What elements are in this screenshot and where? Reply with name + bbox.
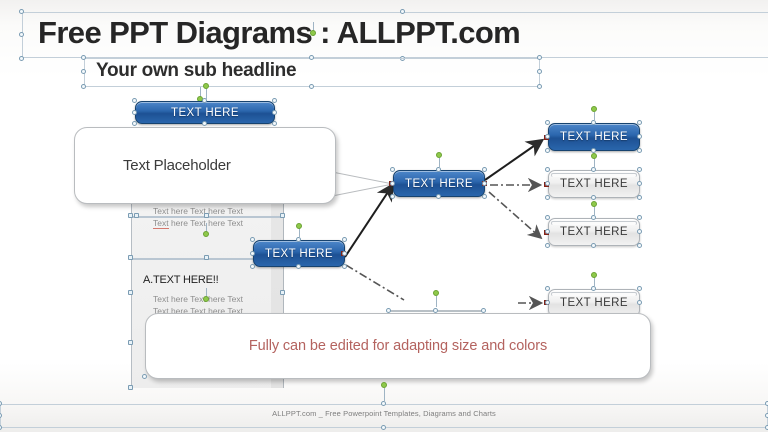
box6-handle-sw[interactable]	[545, 243, 550, 248]
process-box-label: TEXT HERE	[171, 107, 239, 119]
box7-handle-ne[interactable]	[637, 286, 642, 291]
rotation-handle[interactable]	[381, 382, 387, 388]
rotation-handle[interactable]	[203, 83, 209, 89]
panel-row-handle-s[interactable]	[204, 255, 209, 260]
page-title: Free PPT Diagrams : ALLPPT.com	[38, 15, 520, 51]
rotation-stem	[384, 388, 385, 402]
box3-handle-s[interactable]	[436, 194, 441, 199]
rotation-handle[interactable]	[296, 223, 302, 229]
panel-row-handle-nw2[interactable]	[134, 213, 139, 218]
process-box-center[interactable]: TEXT HERE	[393, 170, 485, 197]
box4-handle-w[interactable]	[545, 134, 550, 139]
panel-row-handle-sw[interactable]	[128, 255, 133, 260]
rotation-stem	[594, 158, 595, 167]
rotation-stem	[206, 88, 207, 99]
process-box-label: TEXT HERE	[560, 178, 628, 190]
box6-handle-w[interactable]	[545, 229, 550, 234]
box1-handle-w[interactable]	[132, 110, 137, 115]
panel-row-handle-ne[interactable]	[280, 213, 285, 218]
panel-row-handle-nw[interactable]	[128, 213, 133, 218]
box4-handle-e[interactable]	[637, 134, 642, 139]
title-textbox[interactable]: Free PPT Diagrams : ALLPPT.com	[22, 12, 768, 58]
box5-handle-sw[interactable]	[545, 195, 550, 200]
process-box-label: TEXT HERE	[560, 297, 628, 309]
spellcheck-underline: Text	[153, 218, 169, 229]
page-subtitle: Your own sub headline	[96, 60, 296, 82]
connector-center-to-right3	[489, 192, 540, 237]
rotation-stem	[594, 112, 595, 121]
connector-midleft-to-center	[345, 186, 392, 257]
box2-handle-se[interactable]	[342, 264, 347, 269]
box1-handle-nw[interactable]	[132, 98, 137, 103]
process-box-label: TEXT HERE	[405, 178, 473, 190]
box6-handle-n[interactable]	[591, 215, 596, 220]
handle-se[interactable]	[537, 84, 542, 89]
callout-bottom-text: Fully can be edited for adapting size an…	[249, 338, 547, 354]
process-box-right-1[interactable]: TEXT HERE	[548, 123, 640, 151]
handle-nw[interactable]	[81, 55, 86, 60]
process-box-mid-left[interactable]: TEXT HERE	[253, 240, 345, 267]
box1-handle-sw[interactable]	[132, 121, 137, 126]
handle-ne[interactable]	[537, 55, 542, 60]
box2-handle-s[interactable]	[296, 264, 301, 269]
box1-handle-s[interactable]	[202, 121, 207, 126]
box7-handle-w[interactable]	[545, 300, 550, 305]
rotation-stem	[439, 158, 440, 168]
rotation-handle[interactable]	[433, 290, 439, 296]
box3-handle-ne[interactable]	[482, 167, 487, 172]
box3-handle-nw[interactable]	[390, 167, 395, 172]
panel-line-3: Text here Text here Text	[153, 294, 243, 304]
box5-handle-n[interactable]	[591, 167, 596, 172]
box5-handle-se[interactable]	[637, 195, 642, 200]
rotation-handle[interactable]	[591, 272, 597, 278]
process-box-label: TEXT HERE	[560, 226, 628, 238]
box6-handle-nw[interactable]	[545, 215, 550, 220]
rotation-stem	[594, 206, 595, 215]
callout-bottom-handle-sw[interactable]	[142, 374, 147, 379]
box7-handle-nw[interactable]	[545, 286, 550, 291]
box5-handle-nw[interactable]	[545, 167, 550, 172]
box2-handle-ne[interactable]	[342, 237, 347, 242]
box6-handle-e[interactable]	[637, 229, 642, 234]
panel-handle-e2[interactable]	[280, 290, 285, 295]
rotation-handle[interactable]	[591, 106, 597, 112]
process-box-right-3[interactable]: TEXT HERE	[548, 218, 640, 246]
handle-n[interactable]	[400, 9, 405, 14]
handle-s[interactable]	[309, 84, 314, 89]
handle-sw[interactable]	[81, 84, 86, 89]
panel-line-2: Text here Text here Text	[153, 218, 243, 228]
box4-handle-ne[interactable]	[637, 120, 642, 125]
process-box-label: TEXT HERE	[265, 248, 333, 260]
box5-handle-s[interactable]	[591, 195, 596, 200]
box1-handle-se[interactable]	[272, 121, 277, 126]
box6-handle-se[interactable]	[637, 243, 642, 248]
callout-text-placeholder[interactable]: Text Placeholder	[74, 127, 336, 204]
panel-heading: A.TEXT HERE!!	[143, 274, 218, 286]
box5-handle-w[interactable]	[545, 181, 550, 186]
box4-handle-se[interactable]	[637, 148, 642, 153]
box4-handle-sw[interactable]	[545, 148, 550, 153]
connector-center-to-right1	[485, 141, 541, 180]
box1-handle-ne[interactable]	[272, 98, 277, 103]
box3-handle-w[interactable]	[390, 181, 395, 186]
handle-sw[interactable]	[19, 56, 24, 61]
rotation-stem	[436, 296, 437, 307]
rotation-handle[interactable]	[203, 231, 209, 237]
footer-textbox[interactable]: ALLPPT.com _ Free Powerpoint Templates, …	[0, 404, 768, 428]
box3-handle-se[interactable]	[482, 194, 487, 199]
box7-handle-e[interactable]	[637, 300, 642, 305]
powerpoint-slide-canvas[interactable]: Free PPT Diagrams : ALLPPT.com Your own …	[0, 0, 768, 432]
box6-handle-s[interactable]	[591, 243, 596, 248]
handle-s[interactable]	[381, 425, 386, 430]
handle-e[interactable]	[537, 69, 542, 74]
box5-handle-ne[interactable]	[637, 167, 642, 172]
rotation-handle[interactable]	[591, 153, 597, 159]
rotation-handle[interactable]	[436, 152, 442, 158]
handle-nw[interactable]	[19, 9, 24, 14]
box7-handle-n[interactable]	[591, 286, 596, 291]
footer-credit: ALLPPT.com _ Free Powerpoint Templates, …	[0, 409, 768, 418]
process-box-label: TEXT HERE	[560, 131, 628, 143]
callout-edit-note[interactable]: Fully can be edited for adapting size an…	[145, 313, 651, 379]
rotation-stem	[299, 228, 300, 238]
handle-w[interactable]	[19, 32, 24, 37]
callout-top-text: Text Placeholder	[123, 157, 231, 174]
panel-handle-w3[interactable]	[128, 340, 133, 345]
panel-handle-w2[interactable]	[128, 290, 133, 295]
box2-handle-sw[interactable]	[250, 264, 255, 269]
box2-handle-e[interactable]	[342, 251, 347, 256]
box1-handle-e[interactable]	[272, 110, 277, 115]
rotation-handle[interactable]	[591, 201, 597, 207]
box4-handle-nw[interactable]	[545, 120, 550, 125]
handle-n[interactable]	[309, 55, 314, 60]
box3-handle-e[interactable]	[482, 181, 487, 186]
handle-sw[interactable]	[0, 425, 2, 430]
panel-handle-sw[interactable]	[128, 385, 133, 390]
panel-line-1: Text here Text here Text	[153, 206, 243, 216]
box2-handle-w[interactable]	[250, 251, 255, 256]
box5-handle-e[interactable]	[637, 181, 642, 186]
panel-row-handle-n[interactable]	[204, 213, 209, 218]
rotation-handle[interactable]	[203, 296, 209, 302]
handle-w[interactable]	[81, 69, 86, 74]
subtitle-textbox[interactable]: Your own sub headline	[84, 58, 540, 87]
connector-midleft-downward	[346, 265, 404, 300]
box2-handle-nw[interactable]	[250, 237, 255, 242]
box3-handle-sw[interactable]	[390, 194, 395, 199]
rotation-stem	[594, 277, 595, 286]
process-box-right-2[interactable]: TEXT HERE	[548, 170, 640, 198]
box6-handle-ne[interactable]	[637, 215, 642, 220]
rotation-handle[interactable]	[310, 30, 316, 36]
